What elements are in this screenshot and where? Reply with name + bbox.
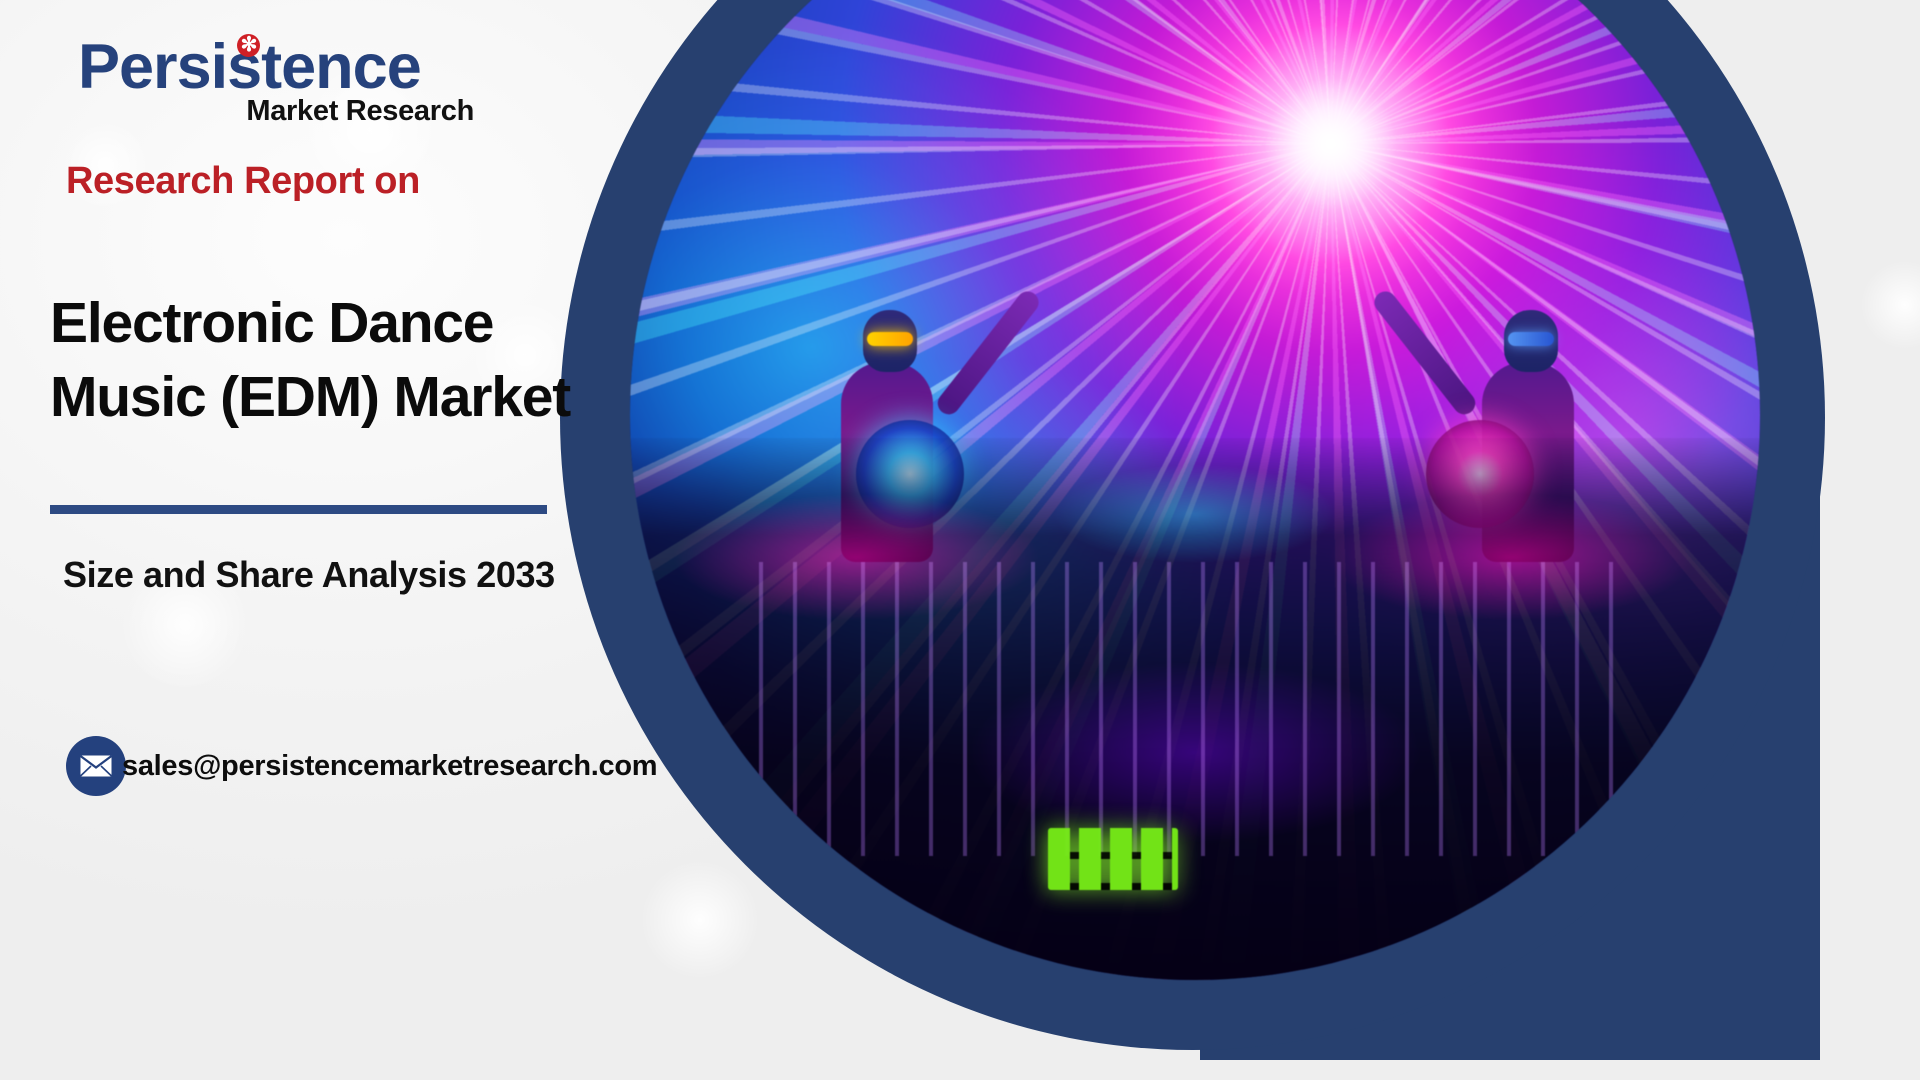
report-eyebrow: Research Report on: [66, 160, 420, 203]
contact-email-row[interactable]: sales@persistencemarketresearch.com: [66, 736, 657, 796]
brand-logo-wordmark: Persistence ✻: [78, 36, 421, 99]
cover-text-panel: Persistence ✻ Market Research Research R…: [0, 0, 760, 1080]
report-subtitle: Size and Share Analysis 2033: [63, 550, 583, 600]
console-fader-strips: [743, 562, 1624, 856]
edm-concert-photo: [630, 0, 1760, 980]
asterisk-icon: ✻: [237, 34, 260, 57]
envelope-icon: [66, 736, 126, 796]
page-title: Electronic Dance Music (EDM) Market: [50, 286, 570, 434]
console-pad-grid: [1048, 828, 1178, 890]
brand-logo[interactable]: Persistence ✻ Market Research: [78, 36, 498, 128]
contact-email-text[interactable]: sales@persistencemarketresearch.com: [122, 750, 657, 783]
title-divider: [50, 505, 547, 514]
dj-visor-icon: [1508, 332, 1554, 346]
report-cover-page: Persistence ✻ Market Research Research R…: [0, 0, 1920, 1080]
dj-visor-icon: [867, 332, 913, 346]
cover-graphic: [560, 0, 1920, 1080]
